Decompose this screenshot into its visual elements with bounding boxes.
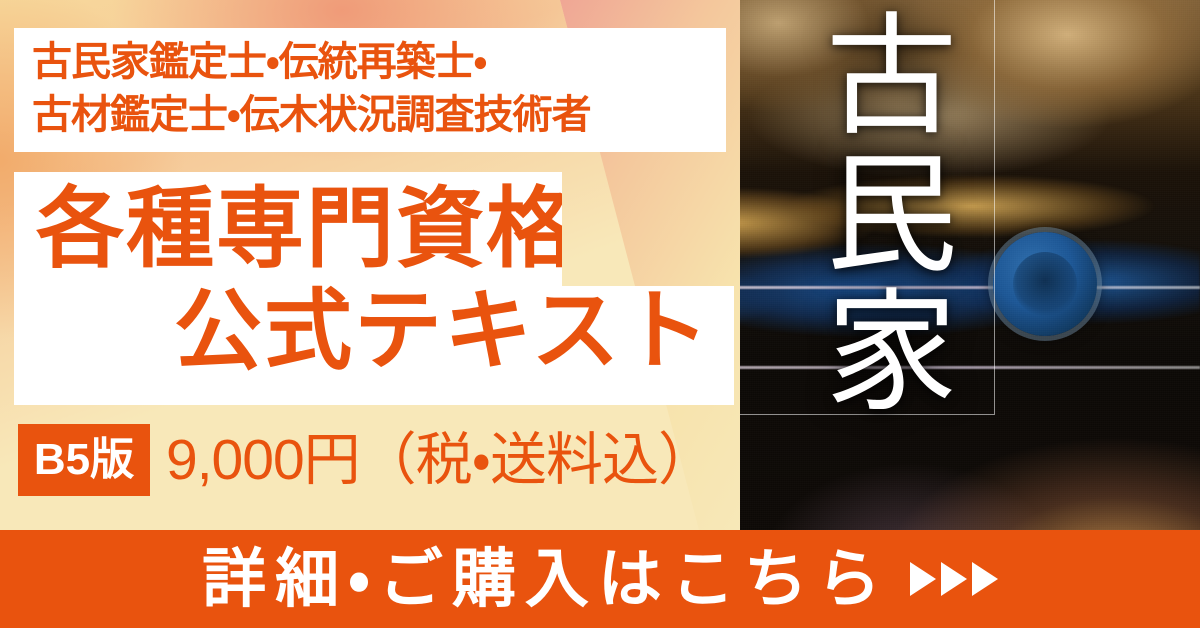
certifications-text: 古民家鑑定士・伝統再築士・ 古材鑑定士・伝木状況調査技術者: [32, 36, 722, 142]
cta-arrows: [910, 562, 998, 596]
play-arrow-icon: [941, 562, 967, 596]
book-cover-title: 古民家: [753, 6, 953, 420]
certifications-panel: 古民家鑑定士・伝統再築士・ 古材鑑定士・伝木状況調査技術者: [14, 28, 726, 152]
headline-line-2: 公式テキスト: [174, 284, 711, 377]
promotional-banner: 古民家 伝統構法 古民家活用のための調査と再生の 古民家鑑定士・伝統再築士・ 古…: [0, 0, 1200, 628]
cta-inner[interactable]: 詳細・ご購入はこちら: [0, 530, 1200, 628]
headline-line-1: 各種専門資格: [36, 182, 576, 275]
play-arrow-icon: [910, 562, 936, 596]
certifications-line-1: 古民家鑑定士・伝統再築士・: [32, 36, 722, 89]
play-arrow-icon: [972, 562, 998, 596]
size-badge: B5版: [18, 424, 150, 496]
cta-label: 詳細・ご購入はこちら: [202, 547, 890, 611]
size-badge-label: B5版: [34, 438, 134, 482]
cta-bar[interactable]: 詳細・ご購入はこちら: [0, 530, 1200, 628]
certifications-line-2: 古材鑑定士・伝木状況調査技術者: [32, 89, 722, 142]
price-text: 9,000円（税・送料込）: [166, 425, 714, 495]
